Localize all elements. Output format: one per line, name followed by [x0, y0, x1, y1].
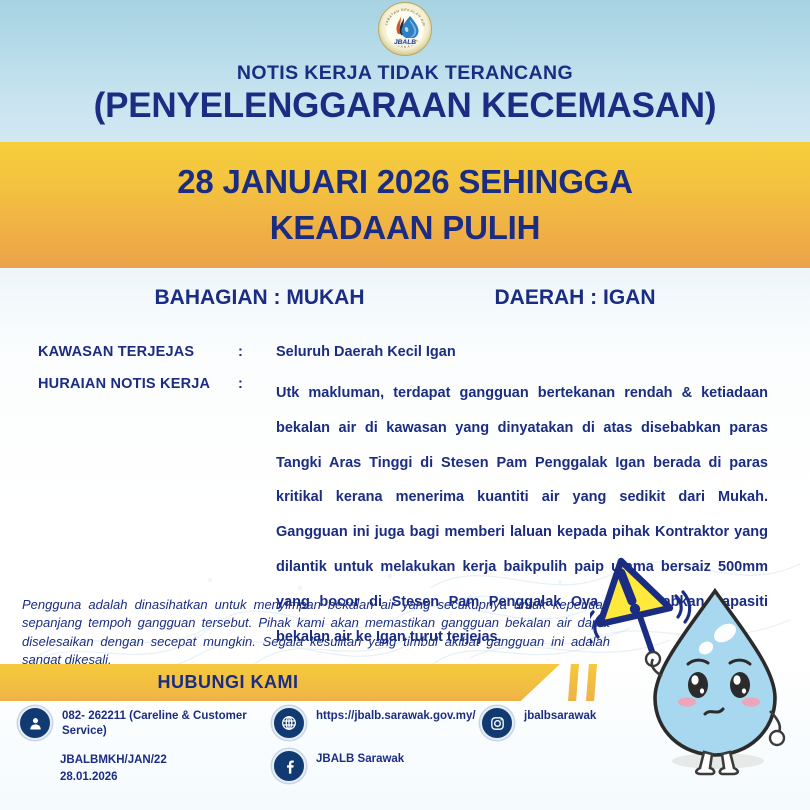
bahagian-label: BAHAGIAN : MUKAH [155, 286, 365, 310]
affected-area-label: KAWASAN TERJEJAS [38, 344, 238, 360]
notice-type-title: NOTIS KERJA TIDAK TERANCANG [0, 62, 810, 85]
svg-text:JBALB: JBALB [394, 39, 416, 46]
warning-exclamation-sign [600, 561, 670, 624]
logo-artwork-icon: JABATAN BEKALAN AIR LUAR BANDAR SARAWAK … [378, 2, 432, 56]
poster-header: JABATAN BEKALAN AIR LUAR BANDAR SARAWAK … [0, 0, 810, 142]
contact-facebook-text: JBALB Sarawak [316, 749, 404, 767]
mascot-blush-left [678, 697, 696, 706]
daerah-label: DAERAH : IGAN [494, 286, 655, 310]
notice-subtitle: (PENYELENGGARAAN KECEMASAN) [0, 86, 810, 126]
date-banner: 28 JANUARI 2026 SEHINGGA KEADAAN PULIH [0, 142, 810, 268]
globe-icon [272, 706, 306, 740]
contact-phone[interactable]: 082- 262211 (Careline & Customer Service… [18, 706, 258, 740]
affected-area-value: Seluruh Daerah Kecil Igan [276, 344, 456, 360]
affected-area-colon: : [238, 344, 276, 360]
contact-website-text: https://jbalb.sarawak.gov.my/ [316, 706, 476, 724]
reference-code: JBALBMKH/JAN/22 [60, 752, 167, 769]
mascot-eye-left [688, 672, 708, 698]
reference-block: JBALBMKH/JAN/22 28.01.2026 [60, 752, 167, 787]
contact-us-title: HUBUNGI KAMI [158, 672, 299, 693]
contact-phone-text: 082- 262211 (Careline & Customer Service… [62, 706, 258, 740]
motion-lines [676, 592, 690, 622]
contact-instagram-text: jbalbsarawak [524, 706, 596, 724]
mascot-blush-right [742, 697, 760, 706]
person-icon [18, 706, 52, 740]
region-row: BAHAGIAN : MUKAH DAERAH : IGAN [0, 286, 810, 310]
contact-instagram[interactable]: jbalbsarawak [480, 706, 596, 740]
mascot-hand-right [770, 731, 784, 745]
contact-us-bar: HUBUNGI KAMI [0, 664, 560, 701]
reference-date: 28.01.2026 [60, 769, 167, 786]
contact-facebook[interactable]: JBALB Sarawak [272, 749, 404, 783]
mascot-eye-right [730, 672, 750, 698]
facebook-icon [272, 749, 306, 783]
jbalb-logo: JABATAN BEKALAN AIR LUAR BANDAR SARAWAK … [378, 2, 432, 56]
instagram-icon [480, 706, 514, 740]
water-droplet-mascot [590, 556, 810, 810]
date-banner-line-1: 28 JANUARI 2026 SEHINGGA [177, 159, 633, 205]
affected-area-row: KAWASAN TERJEJAS : Seluruh Daerah Kecil … [38, 344, 456, 360]
water-disruption-notice-poster: JABATAN BEKALAN AIR LUAR BANDAR SARAWAK … [0, 0, 810, 810]
advisory-disclaimer-text: Pengguna adalah dinasihatkan untuk menyi… [22, 596, 610, 670]
mascot-body [655, 591, 775, 755]
date-banner-line-2: KEADAAN PULIH [270, 205, 541, 251]
contact-website[interactable]: https://jbalb.sarawak.gov.my/ [272, 706, 476, 740]
